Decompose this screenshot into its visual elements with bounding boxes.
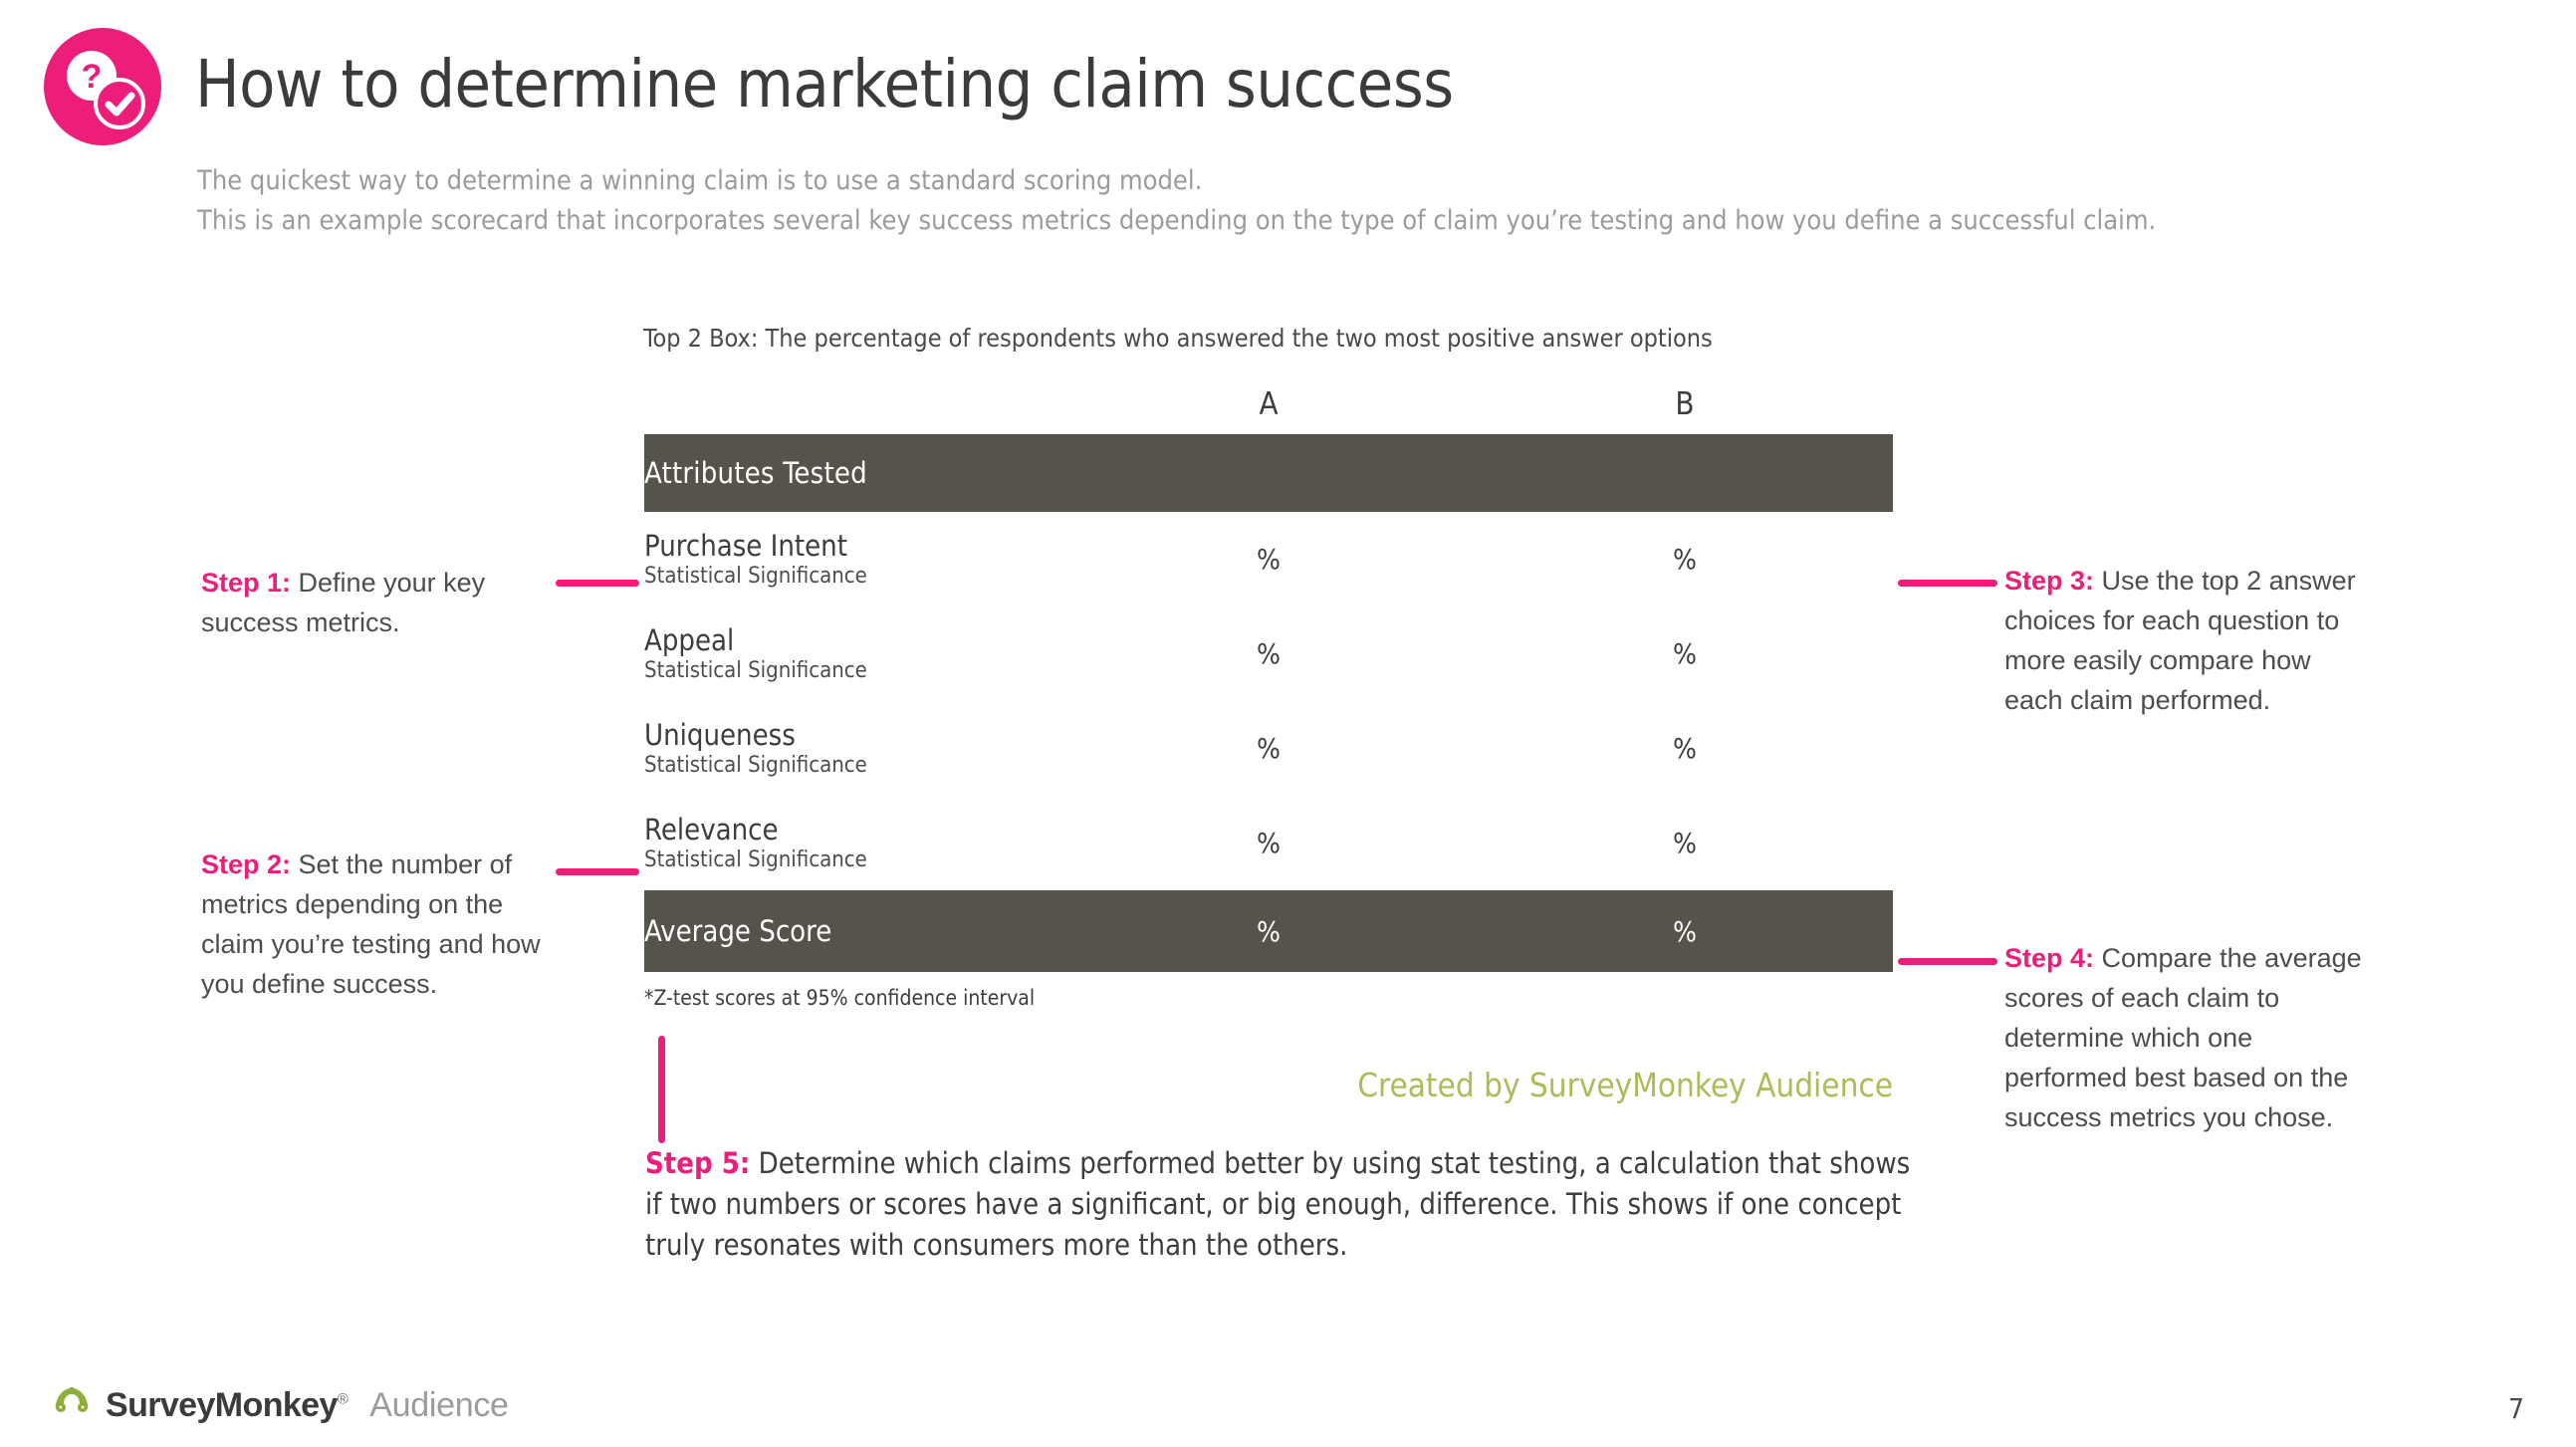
callout-step-2: Step 2: Set the number of metrics depend…	[201, 844, 545, 1004]
callout-step-3: Step 3: Use the top 2 answer choices for…	[2004, 561, 2373, 720]
metric-subtitle: Statistical Significance	[644, 752, 1060, 780]
column-header-a: A	[1060, 374, 1477, 434]
column-header-b: B	[1477, 374, 1893, 434]
surveymonkey-monkey-icon	[50, 1386, 94, 1425]
step-5-text: Determine which claims performed better …	[645, 1146, 1910, 1262]
connector-step5	[658, 1036, 665, 1143]
metric-cell: Relevance Statistical Significance	[644, 796, 1060, 890]
scorecard-caption: Top 2 Box: The percentage of respondents…	[643, 324, 1713, 353]
metric-cell: Uniqueness Statistical Significance	[644, 701, 1060, 796]
metric-subtitle: Statistical Significance	[644, 657, 1060, 685]
credit-line: Created by SurveyMonkey Audience	[0, 1066, 1893, 1104]
step-5-tag: Step 5:	[645, 1146, 750, 1180]
metric-name: Uniqueness	[644, 718, 1060, 752]
section-header-row: Attributes Tested	[644, 434, 1893, 512]
page-title: How to determine marketing claim success	[195, 52, 1454, 118]
callout-step-5: Step 5: Determine which claims performed…	[645, 1143, 1930, 1266]
average-score-a: %	[1060, 890, 1477, 972]
table-row: Appeal Statistical Significance % %	[644, 606, 1893, 701]
average-score-b: %	[1477, 890, 1893, 972]
metric-cell: Purchase Intent Statistical Significance	[644, 512, 1060, 606]
scorecard-table: A B Attributes Tested Purchase Intent St…	[644, 374, 1893, 1024]
table-row: Uniqueness Statistical Significance % %	[644, 701, 1893, 796]
connector-step3	[1898, 580, 1997, 587]
step-2-tag: Step 2:	[201, 849, 291, 879]
table-row: Purchase Intent Statistical Significance…	[644, 512, 1893, 606]
value-cell-a: %	[1060, 796, 1477, 890]
metric-name: Appeal	[644, 623, 1060, 657]
table-header-row: A B	[644, 374, 1893, 434]
value-cell-b: %	[1477, 512, 1893, 606]
section-header-cell-b	[1477, 434, 1893, 512]
footer-wordmark-text: SurveyMonkey	[106, 1386, 338, 1424]
subtitle-line-1: The quickest way to determine a winning …	[197, 161, 2156, 201]
metric-subtitle: Statistical Significance	[644, 846, 1060, 874]
page-number: 7	[2508, 1392, 2524, 1425]
value-cell-b: %	[1477, 796, 1893, 890]
column-header-blank	[644, 374, 1060, 434]
callout-step-4: Step 4: Compare the average scores of ea…	[2004, 938, 2373, 1137]
metric-subtitle: Statistical Significance	[644, 563, 1060, 591]
average-score-label: Average Score	[644, 890, 1060, 972]
connector-step4	[1898, 958, 1997, 965]
value-cell-b: %	[1477, 606, 1893, 701]
footer-logo: SurveyMonkey® Audience	[50, 1386, 509, 1425]
section-header-cell-a	[1060, 434, 1477, 512]
average-score-row: Average Score % %	[644, 890, 1893, 972]
question-check-badge-icon: ?	[44, 28, 161, 145]
step-4-tag: Step 4:	[2004, 943, 2094, 973]
metric-name: Purchase Intent	[644, 529, 1060, 563]
value-cell-a: %	[1060, 606, 1477, 701]
footnote-row: *Z-test scores at 95% confidence interva…	[644, 972, 1893, 1024]
value-cell-b: %	[1477, 701, 1893, 796]
metric-cell: Appeal Statistical Significance	[644, 606, 1060, 701]
value-cell-a: %	[1060, 512, 1477, 606]
footnote-text: *Z-test scores at 95% confidence interva…	[644, 972, 1893, 1024]
connector-step1	[556, 580, 639, 587]
connector-step2	[556, 868, 639, 875]
footer-product-name: Audience	[369, 1386, 508, 1425]
section-header-label: Attributes Tested	[644, 434, 1060, 512]
step-1-tag: Step 1:	[201, 568, 291, 598]
table-row: Relevance Statistical Significance % %	[644, 796, 1893, 890]
registered-mark: ®	[338, 1391, 348, 1408]
subtitle-line-2: This is an example scorecard that incorp…	[197, 201, 2156, 241]
step-3-tag: Step 3:	[2004, 566, 2094, 596]
callout-step-1: Step 1: Define your key success metrics.	[201, 563, 545, 642]
value-cell-a: %	[1060, 701, 1477, 796]
page-subtitle: The quickest way to determine a winning …	[197, 161, 2156, 241]
metric-name: Relevance	[644, 813, 1060, 846]
footer-wordmark: SurveyMonkey®	[106, 1386, 348, 1425]
